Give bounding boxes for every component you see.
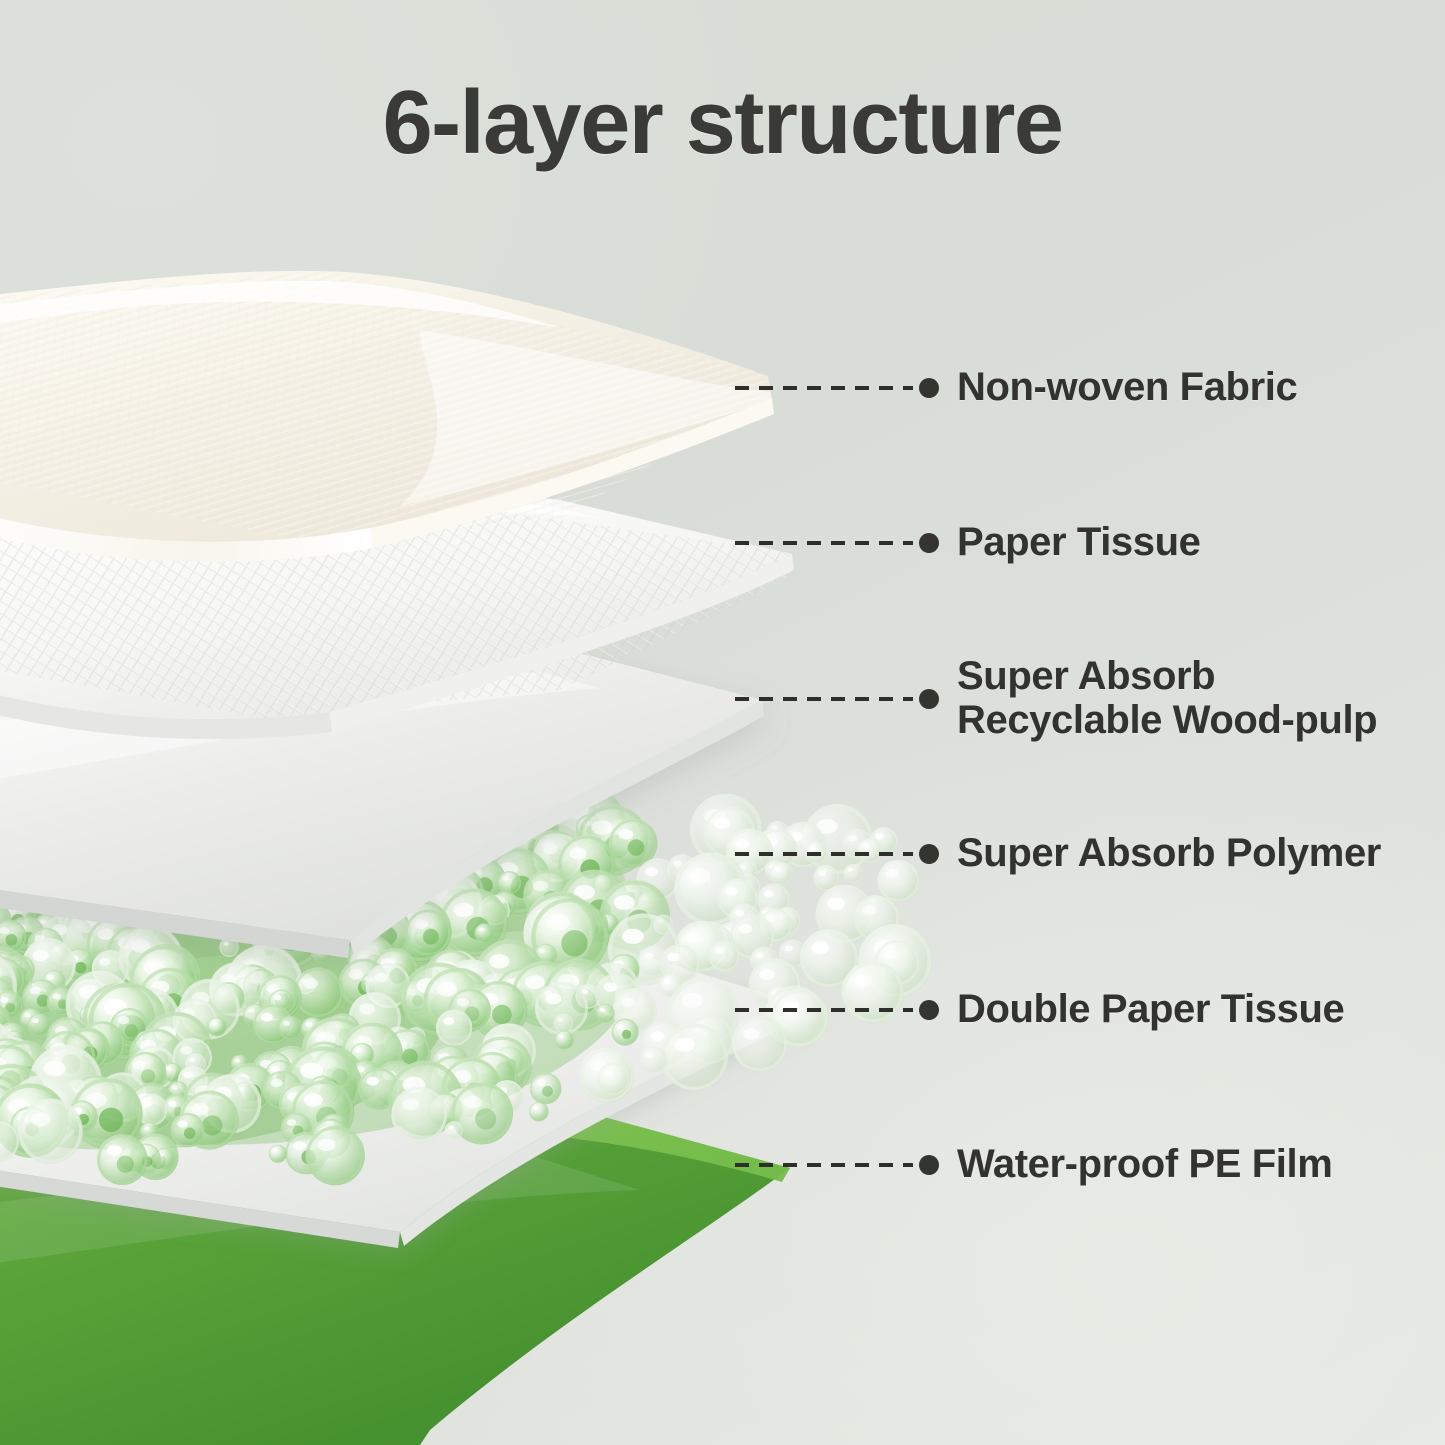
leader-dot	[919, 378, 939, 398]
leader-line	[735, 697, 913, 701]
leader-line	[735, 852, 913, 856]
leader-line	[735, 1008, 913, 1012]
leader-dot	[919, 533, 939, 553]
leader-dot	[919, 844, 939, 864]
callout-label: Water-proof PE Film	[957, 1142, 1332, 1186]
callout-label: Super AbsorbRecyclable Wood-pulp	[957, 654, 1377, 742]
callout-label-line1: Super Absorb	[957, 654, 1215, 698]
callout-label: Non-woven Fabric	[957, 365, 1297, 409]
leader-line	[735, 541, 913, 545]
callout-label: Double Paper Tissue	[957, 987, 1344, 1031]
page-title: 6-layer structure	[0, 78, 1445, 168]
leader-line	[735, 386, 913, 390]
layer-non-woven-fabric	[0, 250, 820, 570]
leader-dot	[919, 1155, 939, 1175]
leader-dot	[919, 689, 939, 709]
leader-line	[735, 1163, 913, 1167]
callout-label: Paper Tissue	[957, 520, 1200, 564]
callout-label-line2: Recyclable Wood-pulp	[957, 698, 1377, 742]
callout-label: Super Absorb Polymer	[957, 831, 1381, 875]
leader-dot	[919, 1000, 939, 1020]
product-layer-diagram: 6-layer structure Non-woven Fabric Paper…	[0, 0, 1445, 1445]
